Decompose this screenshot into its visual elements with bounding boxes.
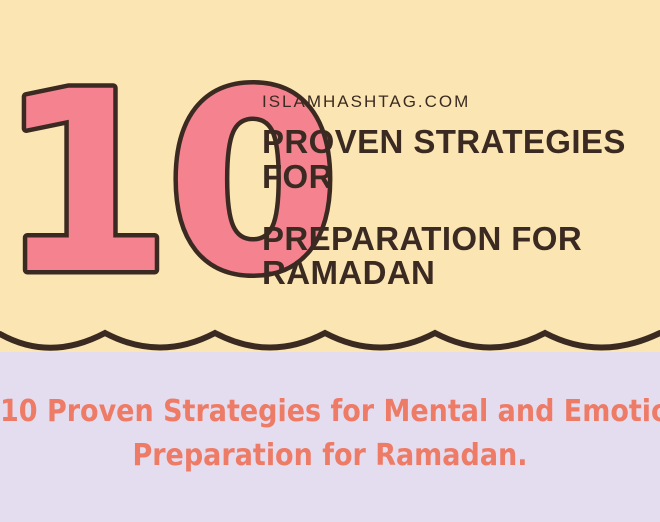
top-cream-section: 10 ISLAMHASHTAG.COM PROVEN STRATEGIES FO… (0, 0, 660, 340)
heading-primary: PROVEN STRATEGIES FOR (262, 125, 660, 194)
poster-canvas: 10 ISLAMHASHTAG.COM PROVEN STRATEGIES FO… (0, 0, 660, 522)
caption-line-1: 10 Proven Strategies for Mental and Emot… (0, 390, 660, 434)
bottom-lavender-section: 10 Proven Strategies for Mental and Emot… (0, 352, 660, 522)
site-url-label: ISLAMHASHTAG.COM (262, 92, 660, 112)
heading-text-block: ISLAMHASHTAG.COM PROVEN STRATEGIES FOR P… (262, 92, 660, 291)
caption-line-2: Preparation for Ramadan. (0, 434, 660, 478)
caption-block: 10 Proven Strategies for Mental and Emot… (0, 390, 660, 477)
big-numeral-10: 10 (0, 88, 244, 293)
heading-secondary: PREPARATION FOR RAMADAN (262, 222, 660, 291)
